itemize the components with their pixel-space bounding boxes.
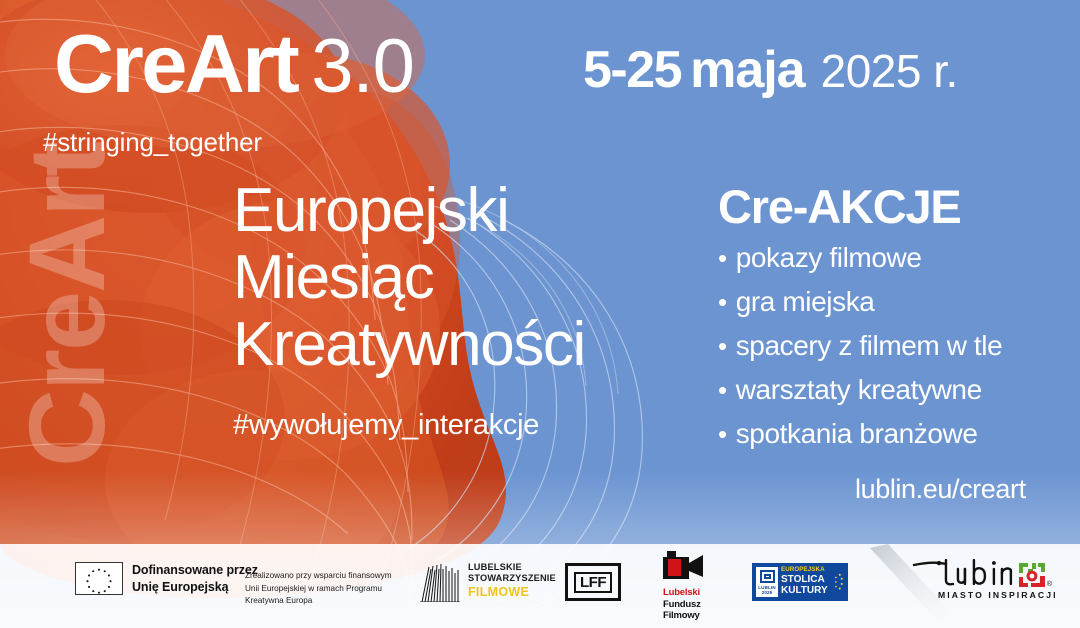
lsf-line-1: LUBELSKIE: [468, 562, 556, 573]
esk-badge-year: 2029: [762, 590, 773, 595]
eu-flag-icon: [75, 562, 123, 595]
lublin-wordmark-row: ®: [912, 556, 1052, 588]
dates-range: 5-25: [583, 41, 681, 99]
headline-line-1: Europejski: [233, 178, 585, 245]
list-item-label: warsztaty kreatywne: [736, 376, 982, 404]
bullet-icon: •: [718, 289, 727, 315]
website-url[interactable]: lublin.eu/creart: [855, 474, 1026, 505]
lfund-line-2: Fundusz: [663, 599, 707, 611]
hashtag-stringing-together: #stringing_together: [43, 127, 262, 158]
lsf-line-2: STOWARZYSZENIE: [468, 573, 556, 584]
lff-logo: LFF: [565, 563, 621, 601]
esk-words: EUROPEJSKA STOLICA KULTURY: [781, 567, 828, 596]
europejska-stolica-kultury-logo: LUBLIN 2029 EUROPEJSKA STOLICA KULTURY: [752, 563, 848, 601]
film-camera-icon: [663, 551, 707, 579]
bullet-icon: •: [718, 377, 727, 403]
lff-outer-frame: LFF: [565, 563, 621, 601]
lsf-line-3: FILMOWE: [468, 585, 556, 600]
bullet-icon: •: [718, 245, 727, 271]
lff-label: LFF: [574, 572, 612, 593]
actions-block: Cre-AKCJE •pokazy filmowe •gra miejska •…: [718, 183, 1002, 464]
list-item-label: spotkania branżowe: [736, 420, 978, 448]
lsf-text: LUBELSKIE STOWARZYSZENIE FILMOWE: [468, 562, 556, 600]
lfund-line-3: Filmowy: [663, 610, 707, 622]
eu-note-line-1: Zrealizowano przy wsparciu finansowym: [245, 571, 392, 580]
headline-line-2: Miesiąc: [233, 245, 585, 312]
esk-emblem-icon: [759, 569, 776, 585]
hashtag-wywolujemy-interakcje: #wywołujemy_interakcje: [233, 409, 539, 442]
esk-eu-stars-icon: [830, 567, 844, 597]
poster-canvas: CreArt CreArt3.0 5-25maja2025 r. #string…: [0, 0, 1080, 628]
brand-name: CreArt: [54, 17, 297, 110]
eu-funding-logo: Dofinansowane przez Unię Europejską: [75, 562, 258, 595]
bullet-icon: •: [718, 333, 727, 359]
list-item-label: spacery z filmem w tle: [736, 332, 1003, 360]
lublin-city-logo: ® MIASTO INSPIRACJI: [912, 556, 1052, 600]
eu-funding-line-2: Unię Europejską: [132, 580, 228, 594]
film-strip-mark-icon: [418, 560, 462, 602]
registered-trademark-icon: ®: [1047, 581, 1052, 588]
eu-programme-note: Zrealizowano przy wsparciu finansowym Un…: [245, 570, 392, 608]
eu-funding-line-1: Dofinansowane przez: [132, 563, 258, 577]
eu-funding-text: Dofinansowane przez Unię Europejską: [132, 562, 258, 595]
actions-title: Cre-AKCJE: [718, 183, 1002, 230]
eu-note-line-2: Unii Europejskiej w ramach Programu: [245, 584, 382, 593]
list-item: •spacery z filmem w tle: [718, 332, 1002, 360]
actions-list: •pokazy filmowe •gra miejska •spacery z …: [718, 244, 1002, 448]
list-item: •gra miejska: [718, 288, 1002, 316]
esk-badge: LUBLIN 2029: [756, 567, 778, 597]
lubelski-fundusz-text: Lubelski Fundusz Filmowy: [663, 587, 707, 622]
dates-year: 2025 r.: [821, 45, 958, 97]
lubelskie-stowarzyszenie-filmowe-logo: LUBELSKIE STOWARZYSZENIE FILMOWE: [418, 560, 556, 602]
list-item: •spotkania branżowe: [718, 420, 1002, 448]
esk-line-3: KULTURY: [781, 585, 828, 596]
lublin-wordmark-icon: [912, 556, 1016, 588]
lublin-tagline: MIASTO INSPIRACJI: [938, 590, 1052, 600]
lubelski-fundusz-filmowy-logo: Lubelski Fundusz Filmowy: [663, 551, 707, 622]
list-item: •warsztaty kreatywne: [718, 376, 1002, 404]
lublin-emblem-icon: [1018, 562, 1046, 588]
eu-stars-icon: [76, 563, 122, 595]
esk-line-2: STOLICA: [781, 574, 828, 585]
headline-block: Europejski Miesiąc Kreatywności: [233, 178, 585, 379]
headline-line-3: Kreatywności: [233, 312, 585, 379]
brand-title: CreArt3.0: [54, 22, 414, 105]
event-dates: 5-25maja2025 r.: [583, 44, 958, 96]
esk-line-1: EUROPEJSKA: [781, 567, 828, 574]
lfund-line-1: Lubelski: [663, 587, 707, 599]
list-item-label: gra miejska: [736, 288, 875, 316]
eu-note-line-3: Kreatywna Europa: [245, 596, 312, 605]
bullet-icon: •: [718, 421, 727, 447]
brand-version: 3.0: [311, 24, 414, 109]
list-item-label: pokazy filmowe: [736, 244, 922, 272]
dates-month: maja: [690, 41, 805, 99]
list-item: •pokazy filmowe: [718, 244, 1002, 272]
